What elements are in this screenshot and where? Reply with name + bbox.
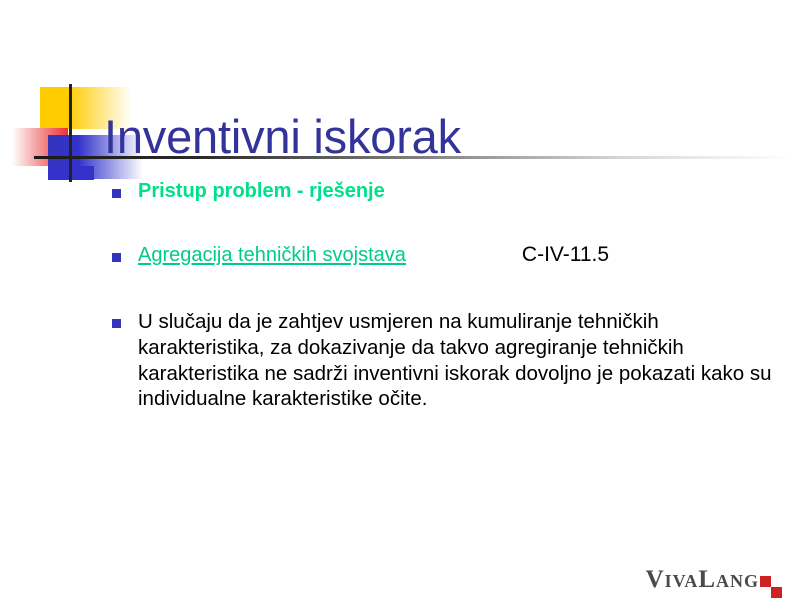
square-bullet-icon (112, 189, 121, 198)
square-bullet-icon (112, 253, 121, 262)
bullet-item-link: Agregacija tehničkih svojstava C-IV-11.5 (0, 243, 800, 267)
square-bullet-icon (112, 319, 121, 328)
bullet-content: U slučaju da je zahtjev usmjeren na kumu… (138, 309, 800, 412)
bullet-item-lead: Pristup problem - rješenje (0, 180, 800, 203)
hyperlink-text[interactable]: Agregacija tehničkih svojstava (138, 244, 406, 267)
paragraph-text: U slučaju da je zahtjev usmjeren na kumu… (138, 309, 788, 412)
slide-decoration (0, 0, 200, 200)
bullet-item-paragraph: U slučaju da je zahtjev usmjeren na kumu… (0, 309, 800, 412)
lead-statement-text: Pristup problem - rješenje (138, 180, 800, 203)
decoration-vertical-line (69, 84, 72, 182)
watermark-stair-icon (760, 576, 782, 598)
slide-title: Inventivni iskorak (104, 109, 461, 164)
bullet-content: Agregacija tehničkih svojstava C-IV-11.5 (138, 243, 800, 267)
watermark-label: VivaLang (646, 567, 759, 592)
slide-body: Pristup problem - rješenje Agregacija te… (0, 176, 800, 412)
watermark: VivaLang (646, 567, 782, 592)
reference-code: C-IV-11.5 (522, 243, 609, 267)
presentation-slide: Inventivni iskorak Pristup problem - rje… (0, 0, 800, 600)
bullet-content: Pristup problem - rješenje (138, 180, 800, 203)
